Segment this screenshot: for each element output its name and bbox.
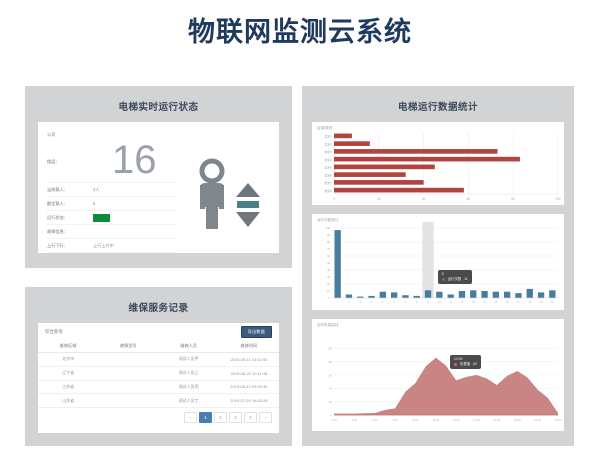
svg-text:6: 6 [393,301,395,304]
svg-text:4: 4 [371,301,373,304]
pagination-page-4[interactable]: 4 [244,412,257,423]
svg-text:20:00: 20:00 [534,418,541,422]
bar-chart-svg[interactable]: 020406080100类别1类别2类别3类别4类别5类别6类别7类别8 [312,122,564,205]
panel-title-elevator-status: 电梯实时运行状态 [25,86,292,113]
status-value: 上行上升中 [93,243,114,249]
table-row[interactable]: 山东省 测试人员丁 2019-07-29 16:45:28 [38,394,279,408]
svg-text:10:00: 10:00 [432,418,439,422]
status-row: 上行下行： 上行上升中 [47,239,177,253]
svg-text:类别7: 类别7 [324,180,332,185]
pagination-next[interactable]: › [259,412,272,423]
pagination-page-1[interactable]: 1 [199,412,212,423]
svg-text:0: 0 [333,197,335,201]
table-row[interactable]: 北京市 测试人员甲 2019-09-11 14:32:06 [38,353,279,367]
cell-staff: 测试人员丁 [159,394,219,408]
status-label: 额定载人： [47,201,93,207]
maintenance-table-card: 综合查询 导出数据 维修区域 故障型号 维修人员 维修时间 北京市 测试人员甲 … [38,323,279,433]
status-row: 运行状态： [47,211,177,225]
elevator-person-icon [190,157,270,233]
cell-staff: 测试人员乙 [159,366,219,380]
column-header-region: 维修区域 [38,340,98,353]
status-row: 故障信息： [47,225,177,239]
status-label: 上行下行： [47,243,93,249]
pagination-page-3[interactable]: 3 [229,412,242,423]
svg-text:13: 13 [472,301,475,304]
cell-time: 2019-07-29 16:45:28 [219,394,279,408]
svg-text:20: 20 [327,282,330,286]
svg-text:14:00: 14:00 [473,418,480,422]
chart-elevator-load-area: 实时负载曲线 0204060801000:002:004:006:008:001… [312,319,564,431]
svg-text:90: 90 [327,233,330,237]
svg-text:类别6: 类别6 [324,172,332,177]
status-company-label: 公司 [47,132,93,138]
svg-text:18:00: 18:00 [514,418,521,422]
chart-columns-tooltip: 9 运行次数 11 [438,270,472,284]
table-row[interactable]: 辽宁省 测试人员乙 2019-08-22 10:11:48 [38,366,279,380]
status-row: 额定载人： 8 [47,197,177,211]
svg-text:16: 16 [506,301,509,304]
status-value: 8 [93,201,95,206]
svg-text:1: 1 [337,301,339,304]
page-title: 物联网监测云系统 [0,10,600,49]
cell-model [98,366,158,380]
tooltip-series-dot [442,278,445,281]
svg-text:类别2: 类别2 [324,141,332,146]
panel-title-statistics: 电梯运行数据统计 [302,86,574,113]
svg-text:7: 7 [405,301,407,304]
svg-text:60: 60 [327,254,330,258]
svg-text:5: 5 [382,301,384,304]
svg-text:20: 20 [377,197,381,201]
svg-text:100: 100 [326,226,331,230]
elevator-status-card: 公司 楼层： 当前载人： 3人 额定载人： 8 运行状态： 故障信息： [38,122,279,253]
svg-text:14: 14 [483,301,486,304]
svg-text:8:00: 8:00 [413,418,419,422]
svg-text:18: 18 [528,301,531,304]
svg-text:80: 80 [329,360,333,364]
svg-text:70: 70 [327,247,330,251]
chart-elevator-runs-columns: 运行次数统计 010203040506070809010012345678910… [312,214,564,310]
svg-text:100: 100 [555,197,561,201]
svg-text:12: 12 [461,301,464,304]
svg-text:20: 20 [329,400,333,404]
cell-staff: 测试人员丙 [159,380,219,394]
pagination-prev[interactable]: ‹ [184,412,197,423]
cell-time: 2019-08-22 10:11:48 [219,366,279,380]
panel-title-maintenance: 维保服务记录 [25,287,292,314]
svg-text:4:00: 4:00 [372,418,378,422]
svg-text:类别5: 类别5 [324,165,332,170]
status-row: 当前载人： 3人 [47,183,177,197]
table-header-row: 维修区域 故障型号 维修人员 维修时间 [38,340,279,353]
cell-staff: 测试人员甲 [159,353,219,367]
svg-text:0:00: 0:00 [331,418,337,422]
cell-time: 2019-08-12 09:20:35 [219,380,279,394]
svg-text:50: 50 [327,261,330,265]
svg-text:100: 100 [327,347,332,351]
svg-text:60: 60 [329,373,333,377]
tooltip-series: 负载值 [460,362,470,367]
svg-text:0: 0 [329,296,331,300]
column-header-model: 故障型号 [98,340,158,353]
svg-text:2:00: 2:00 [352,418,358,422]
svg-text:30: 30 [327,275,330,279]
export-button[interactable]: 导出数据 [241,326,272,338]
svg-text:6:00: 6:00 [392,418,398,422]
svg-text:9: 9 [427,301,429,304]
tooltip-value: 62 [473,362,477,367]
svg-text:8: 8 [416,301,418,304]
svg-text:20: 20 [551,301,554,304]
svg-text:15: 15 [494,301,497,304]
cell-region: 江苏省 [38,380,98,394]
svg-text:类别1: 类别1 [324,134,332,139]
status-value: 3人 [93,187,100,193]
status-floor-label: 楼层： [47,159,93,165]
svg-text:22:00: 22:00 [555,418,562,422]
column-header-staff: 维修人员 [159,340,219,353]
svg-text:80: 80 [511,197,515,201]
panel-elevator-status: 电梯实时运行状态 公司 楼层： 当前载人： 3人 额定载人： 8 运行状态： 故 [25,86,292,268]
status-label: 运行状态： [47,215,93,221]
cell-model [98,380,158,394]
current-floor-value: 16 [112,140,157,180]
maintenance-table: 维修区域 故障型号 维修人员 维修时间 北京市 测试人员甲 2019-09-11… [38,340,279,408]
tooltip-value: 11 [464,277,468,282]
pagination-page-2[interactable]: 2 [214,412,227,423]
panel-elevator-statistics: 电梯运行数据统计 区域/类别 020406080100类别1类别2类别3类别4类… [302,86,574,446]
status-label: 故障信息： [47,229,93,235]
svg-text:11: 11 [449,301,452,304]
chart-elevator-fault-bars: 区域/类别 020406080100类别1类别2类别3类别4类别5类别6类别7类… [312,122,564,205]
column-chart-svg[interactable]: 0102030405060708090100123456789101112131… [312,214,564,310]
cell-model [98,353,158,367]
column-header-time: 维修时间 [219,340,279,353]
cell-region: 北京市 [38,353,98,367]
svg-text:19: 19 [540,301,543,304]
svg-text:10: 10 [327,289,330,293]
svg-text:17: 17 [517,301,520,304]
svg-text:16:00: 16:00 [494,418,501,422]
svg-text:12:00: 12:00 [453,418,460,422]
tooltip-series-dot [454,363,457,366]
area-chart-svg[interactable]: 0204060801000:002:004:006:008:0010:0012:… [312,319,564,431]
cell-region: 山东省 [38,394,98,408]
cell-time: 2019-09-11 14:32:06 [219,353,279,367]
cell-region: 辽宁省 [38,366,98,380]
pagination: ‹ 1 2 3 4 › [38,408,279,423]
table-row[interactable]: 江苏省 测试人员丙 2019-08-12 09:20:35 [38,380,279,394]
svg-text:80: 80 [327,240,330,244]
svg-text:3: 3 [360,301,362,304]
svg-text:0: 0 [330,413,332,417]
table-caption: 综合查询 [45,329,63,335]
svg-text:2: 2 [348,301,350,304]
svg-text:10: 10 [438,301,441,304]
panel-maintenance-records: 维保服务记录 综合查询 导出数据 维修区域 故障型号 维修人员 维修时间 北京市… [25,287,292,446]
svg-text:类别3: 类别3 [324,149,332,154]
status-label: 当前载人： [47,187,93,193]
svg-text:类别8: 类别8 [324,188,332,193]
table-toolbar: 综合查询 导出数据 [38,323,279,340]
status-badge [93,214,110,222]
cell-model [98,394,158,408]
svg-text:40: 40 [329,387,333,391]
svg-text:40: 40 [422,197,426,201]
svg-text:60: 60 [467,197,471,201]
tooltip-title: 9 [442,272,444,277]
svg-text:类别4: 类别4 [324,157,332,162]
tooltip-series: 运行次数 [448,277,462,282]
chart-area-tooltip: 13:00 负载值 62 [450,355,481,369]
svg-text:40: 40 [327,268,330,272]
